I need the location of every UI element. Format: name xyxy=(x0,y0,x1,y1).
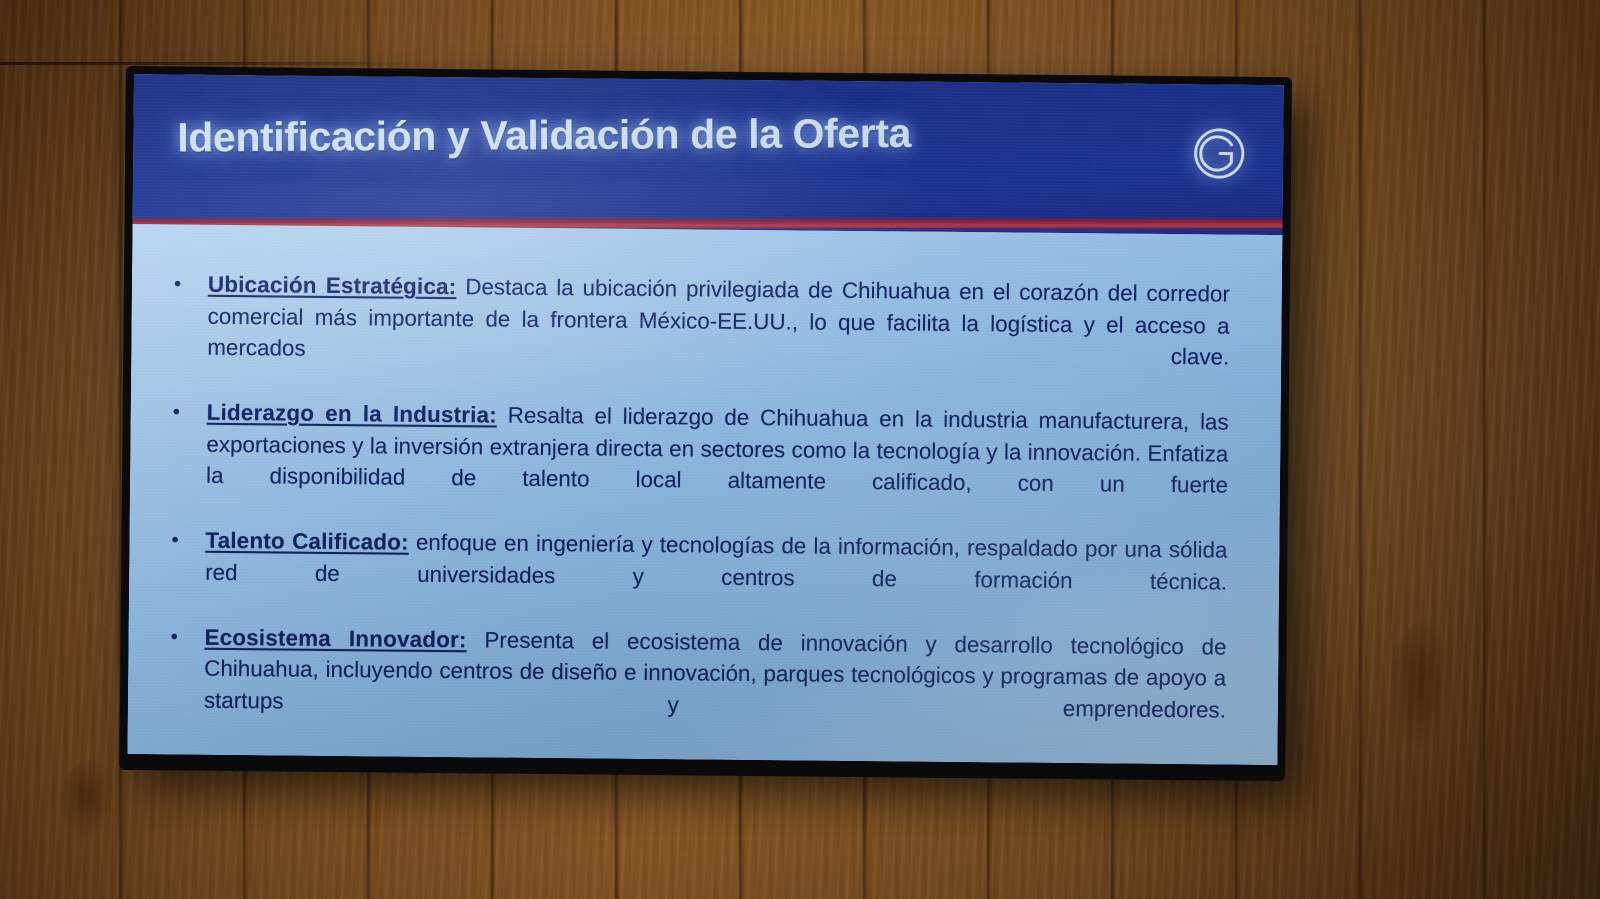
circular-g-monogram-icon xyxy=(1191,125,1248,182)
bullet-list: • Ubicación Estratégica: Destaca la ubic… xyxy=(168,268,1230,765)
slide-title: Identificación y Validación de la Oferta xyxy=(177,109,911,160)
wall-mounted-flat-screen-tv: Identificación y Validación de la Oferta… xyxy=(121,68,1290,779)
bullet-lead: Liderazgo en la Industria: xyxy=(207,400,497,428)
list-item: • Ubicación Estratégica: Destaca la ubic… xyxy=(173,268,1230,404)
bullet-body: Ecosistema Innovador: Presenta el ecosis… xyxy=(203,621,1226,757)
slide-body: • Ubicación Estratégica: Destaca la ubic… xyxy=(127,224,1282,765)
tv-brand-mark xyxy=(688,754,714,758)
bullet-lead: Incentivos Competitivos: xyxy=(203,752,475,765)
list-item: • Ecosistema Innovador: Presenta el ecos… xyxy=(169,621,1226,757)
bullet-lead: Ubicación Estratégica: xyxy=(208,272,457,299)
bullet-body: Ubicación Estratégica: Destaca la ubicac… xyxy=(207,269,1230,405)
tv-bezel: Identificación y Validación de la Oferta… xyxy=(121,68,1290,779)
list-item: • Liderazgo en la Industria: Resalta el … xyxy=(172,396,1229,532)
list-item: • Talento Calificado: enfoque en ingenie… xyxy=(171,524,1228,629)
presentation-slide: Identificación y Validación de la Oferta… xyxy=(127,74,1283,765)
bullet-marker: • xyxy=(171,524,205,556)
bullet-body: Talento Calificado: enfoque en ingenierí… xyxy=(205,525,1228,629)
bullet-marker: • xyxy=(173,396,207,428)
photo-scene: Identificación y Validación de la Oferta… xyxy=(0,0,1600,899)
bullet-marker: • xyxy=(169,749,203,765)
bullet-lead: Ecosistema Innovador: xyxy=(204,624,466,652)
bullet-marker: • xyxy=(170,621,204,653)
slide-header: Identificación y Validación de la Oferta xyxy=(133,74,1284,235)
bullet-detail: Subraya los paquetes de incentivos compe… xyxy=(203,755,1225,765)
wall-panel-seam xyxy=(0,62,420,65)
bullet-marker: • xyxy=(174,268,208,300)
bullet-body: Liderazgo en la Industria: Resalta el li… xyxy=(206,397,1229,533)
bullet-lead: Talento Calificado: xyxy=(205,528,409,555)
